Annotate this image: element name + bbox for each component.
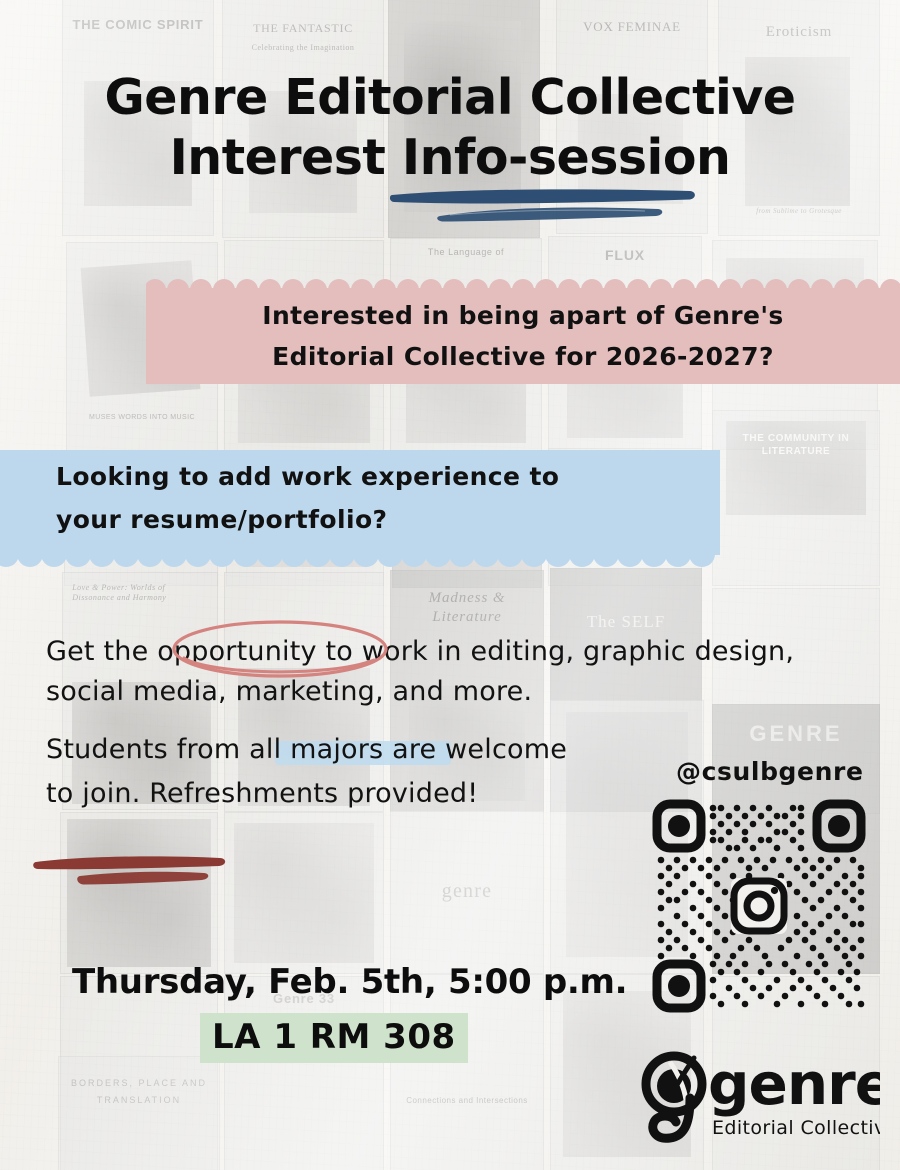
blue-banner-line-1: Looking to add work experience to	[56, 456, 720, 499]
background-cover-title: MUSES WORDS INTO MUSIC	[76, 413, 208, 422]
instagram-icon	[731, 878, 787, 934]
background-cover-title: The Language of	[400, 247, 532, 258]
pink-banner-line-2: Editorial Collective for 2026-2027?	[272, 336, 774, 377]
blue-banner-line-2: your resume/portfolio?	[56, 499, 720, 542]
qr-code-svg[interactable]	[648, 795, 870, 1017]
blue-callout-banner: Looking to add work experience to your r…	[0, 450, 720, 555]
background-cover: THE COMMUNITY IN LITERATURE	[712, 410, 880, 586]
background-cover-title: THE COMIC SPIRIT	[72, 17, 204, 33]
title-line-1: Genre Editorial Collective	[0, 68, 900, 128]
genre-logo-tagline: Editorial Collective	[712, 1117, 880, 1139]
background-cover	[60, 812, 218, 974]
background-cover: Genre 33	[224, 976, 384, 1170]
genre-logo-svg: genre Editorial Collective	[630, 1048, 880, 1154]
background-cover-title: Love & Power: Worlds of Dissonance and H…	[72, 583, 208, 603]
qr-code[interactable]	[648, 795, 870, 1017]
background-cover-title: GENRE	[723, 717, 869, 750]
background-cover-title: THE FANTASTIC	[233, 21, 374, 36]
background-cover-art	[234, 823, 373, 964]
background-cover-title: Madness & Literature	[400, 589, 534, 627]
background-cover-caption: from Sublime to Grotesque	[729, 207, 870, 216]
event-datetime: Thursday, Feb. 5th, 5:00 p.m.	[72, 962, 627, 1002]
background-cover-title: The SELF	[560, 611, 692, 632]
genre-logo: genre Editorial Collective	[630, 1048, 880, 1154]
event-location-wrap: LA 1 RM 308	[200, 1013, 468, 1063]
background-cover-title: Eroticism	[729, 23, 870, 42]
pink-banner-line-1: Interested in being apart of Genre's	[262, 295, 783, 336]
body-paragraph-2: Students from all majors are welcome to …	[46, 728, 586, 815]
event-location: LA 1 RM 308	[200, 1013, 468, 1063]
background-cover-title: Connections and Intersections	[400, 1095, 534, 1106]
background-cover-subtitle: Celebrating the Imagination	[233, 43, 374, 53]
background-cover-title: VOX FEMINAE	[566, 19, 698, 35]
instagram-handle: @csulbgenre	[676, 757, 864, 786]
body-paragraph-1: Get the opportunity to work in editing, …	[46, 632, 836, 712]
background-cover-title: FLUX	[558, 247, 692, 265]
page-title: Genre Editorial Collective Interest Info…	[0, 68, 900, 188]
background-cover: BORDERS, PLACE AND TRANSLATION	[58, 1056, 220, 1170]
background-cover: Connections and Intersections	[390, 974, 544, 1170]
blue-banner-scallop-edge	[0, 554, 720, 570]
background-cover-art	[67, 819, 211, 966]
background-cover-title: BORDERS, PLACE AND TRANSLATION	[69, 1075, 210, 1109]
background-cover	[224, 812, 384, 974]
genre-logo-wordmark: genre	[708, 1050, 880, 1118]
background-cover: genre	[390, 810, 544, 974]
title-line-2: Interest Info-session	[0, 128, 900, 188]
background-cover-title: genre	[400, 879, 534, 904]
pink-callout-banner: Interested in being apart of Genre's Edi…	[146, 288, 900, 384]
poster: THE COMIC SPIRIT THE FANTASTIC Celebrati…	[0, 0, 900, 1170]
genre-logo-g-icon	[646, 1056, 702, 1138]
background-cover-title: THE COMMUNITY IN LITERATURE	[723, 433, 869, 458]
